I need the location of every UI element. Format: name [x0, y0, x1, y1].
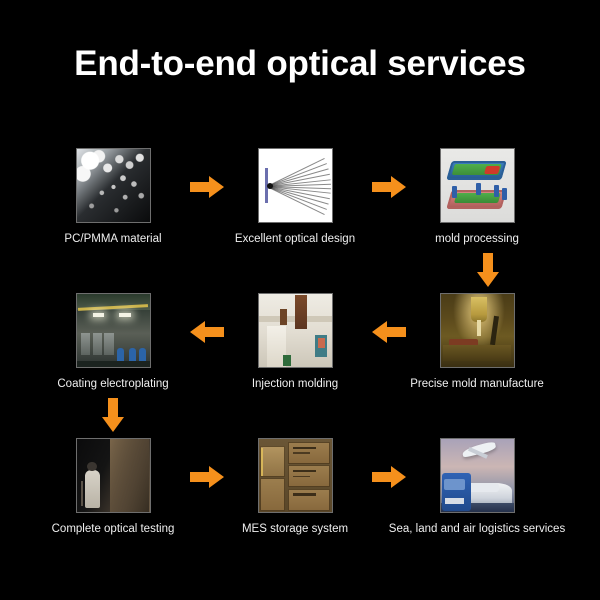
- process-flow-diagram: PC/PMMA material: [0, 140, 600, 575]
- thumbnail-mold-halves: [440, 148, 515, 223]
- page-title: End-to-end optical services: [0, 42, 600, 86]
- step-label: Excellent optical design: [205, 232, 385, 246]
- thumbnail-optical-test-room: [76, 438, 151, 513]
- flow-step-mold-processing[interactable]: mold processing: [387, 140, 567, 246]
- step-label: Injection molding: [205, 377, 385, 391]
- thumbnail-injection-machine: [258, 293, 333, 368]
- flow-step-complete-optical-testing[interactable]: Complete optical testing: [23, 430, 203, 536]
- thumbnail-electroplating-line: [76, 293, 151, 368]
- thumbnail-optical-ray-diagram: [258, 148, 333, 223]
- step-label: Complete optical testing: [23, 522, 203, 536]
- arrow-down-icon: [477, 253, 499, 287]
- step-label: mold processing: [387, 232, 567, 246]
- flow-row-3: Complete optical testing MES storage sys…: [0, 430, 600, 575]
- flow-row-2: Coating electroplating Injection molding: [0, 285, 600, 430]
- flow-step-optical-design[interactable]: Excellent optical design: [205, 140, 385, 246]
- thumbnail-cnc-machining: [440, 293, 515, 368]
- thumbnail-plastic-pellets: [76, 148, 151, 223]
- flow-step-pc-pmma-material[interactable]: PC/PMMA material: [23, 140, 203, 246]
- flow-row-1: PC/PMMA material: [0, 140, 600, 285]
- flow-step-coating-electroplating[interactable]: Coating electroplating: [23, 285, 203, 391]
- step-label: Sea, land and air logistics services: [387, 522, 567, 536]
- flow-step-mes-storage-system[interactable]: MES storage system: [205, 430, 385, 536]
- thumbnail-carton-warehouse: [258, 438, 333, 513]
- flow-step-precise-mold-manufacture[interactable]: Precise mold manufacture: [387, 285, 567, 391]
- step-label: Precise mold manufacture: [387, 377, 567, 391]
- flow-step-injection-molding[interactable]: Injection molding: [205, 285, 385, 391]
- thumbnail-logistics: [440, 438, 515, 513]
- arrow-down-icon: [102, 398, 124, 432]
- step-label: Coating electroplating: [23, 377, 203, 391]
- step-label: MES storage system: [205, 522, 385, 536]
- flow-step-logistics-services[interactable]: Sea, land and air logistics services: [387, 430, 567, 536]
- step-label: PC/PMMA material: [23, 232, 203, 246]
